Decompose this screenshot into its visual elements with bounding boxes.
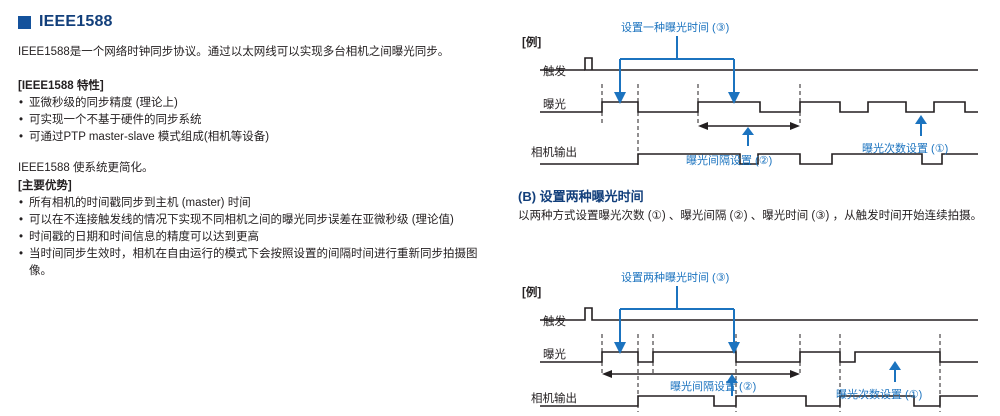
annotation-exposure-count-label: 曝光次数设置 (①) <box>862 141 948 155</box>
features-title: [IEEE1588 特性] <box>18 77 482 93</box>
signal-label-exposure: 曝光 <box>543 347 566 361</box>
square-marker-icon <box>18 16 31 29</box>
section-b-title: (B) 设置两种曝光时间 <box>518 188 1000 205</box>
example-label: [例] <box>522 285 541 299</box>
signal-label-exposure: 曝光 <box>543 97 566 111</box>
list-item: 可通过PTP master-slave 模式组成(相机等设备) <box>18 129 482 146</box>
annotation-exposure-count-arrow <box>915 115 927 136</box>
section-b-description: 以两种方式设置曝光次数 (①) 、曝光间隔 (②) 、曝光时间 (③) ，从触发… <box>518 208 1000 225</box>
advantages-title: [主要优势] <box>18 177 482 193</box>
intro-paragraph: IEEE1588是一个网络时钟同步协议。通过以太网线可以实现多台相机之间曝光同步… <box>18 44 482 61</box>
list-item: 可实现一个不基于硬件的同步系统 <box>18 112 482 129</box>
annotation-exposure-time-label: 设置一种曝光时间 (③) <box>621 20 729 34</box>
example-label: [例] <box>522 35 541 49</box>
waveform-exposure <box>540 352 978 362</box>
simplify-line: IEEE1588 使系统更简化。 <box>18 160 482 177</box>
annotation-exposure-time-label: 设置两种曝光时间 (③) <box>621 270 729 284</box>
page-title: IEEE1588 <box>18 14 482 30</box>
list-item: 当时间同步生效时，相机在自由运行的模式下会按照设置的间隔时间进行重新同步拍摄图像… <box>18 246 482 280</box>
waveform-trigger <box>540 308 978 320</box>
timing-diagram-bottom: [例] 触发 曝光 相机输出 <box>510 266 1000 416</box>
page-title-label: IEEE1588 <box>39 14 113 30</box>
annotation-exposure-count-label: 曝光次数设置 (①) <box>836 387 922 401</box>
signal-label-camera-output: 相机输出 <box>531 391 577 405</box>
waveform-exposure <box>540 102 978 112</box>
list-item: 亚微秒级的同步精度 (理论上) <box>18 95 482 112</box>
signal-label-trigger: 触发 <box>543 314 566 328</box>
annotation-exposure-interval-label: 曝光间隔设置 (②) <box>670 379 756 393</box>
signal-label-camera-output: 相机输出 <box>531 145 577 159</box>
list-item: 所有相机的时间戳同步到主机 (master) 时间 <box>18 195 482 212</box>
timing-diagram-top-svg: [例] 触发 曝光 相机输出 <box>510 16 1000 176</box>
list-item: 时间戳的日期和时间信息的精度可以达到更高 <box>18 229 482 246</box>
timing-diagram-bottom-svg: [例] 触发 曝光 相机输出 <box>510 266 1000 416</box>
left-text-column: IEEE1588 IEEE1588是一个网络时钟同步协议。通过以太网线可以实现多… <box>0 0 500 416</box>
annotation-exposure-count-arrow <box>889 361 901 382</box>
annotation-exposure-interval-label: 曝光间隔设置 (②) <box>686 153 772 167</box>
right-diagram-column: [例] 触发 曝光 相机输出 <box>510 0 1000 416</box>
features-list: 亚微秒级的同步精度 (理论上) 可实现一个不基于硬件的同步系统 可通过PTP m… <box>18 95 482 146</box>
section-b: (B) 设置两种曝光时间 以两种方式设置曝光次数 (①) 、曝光间隔 (②) 、… <box>518 188 1000 225</box>
list-item: 可以在不连接触发线的情况下实现不同相机之间的曝光同步误差在亚微秒级 (理论值) <box>18 212 482 229</box>
timing-diagram-top: [例] 触发 曝光 相机输出 <box>510 16 1000 176</box>
annotation-exposure-interval-arrow <box>698 122 800 146</box>
page-root: IEEE1588 IEEE1588是一个网络时钟同步协议。通过以太网线可以实现多… <box>0 0 1000 416</box>
advantages-list: 所有相机的时间戳同步到主机 (master) 时间 可以在不连接触发线的情况下实… <box>18 195 482 280</box>
signal-label-trigger: 触发 <box>543 64 566 78</box>
